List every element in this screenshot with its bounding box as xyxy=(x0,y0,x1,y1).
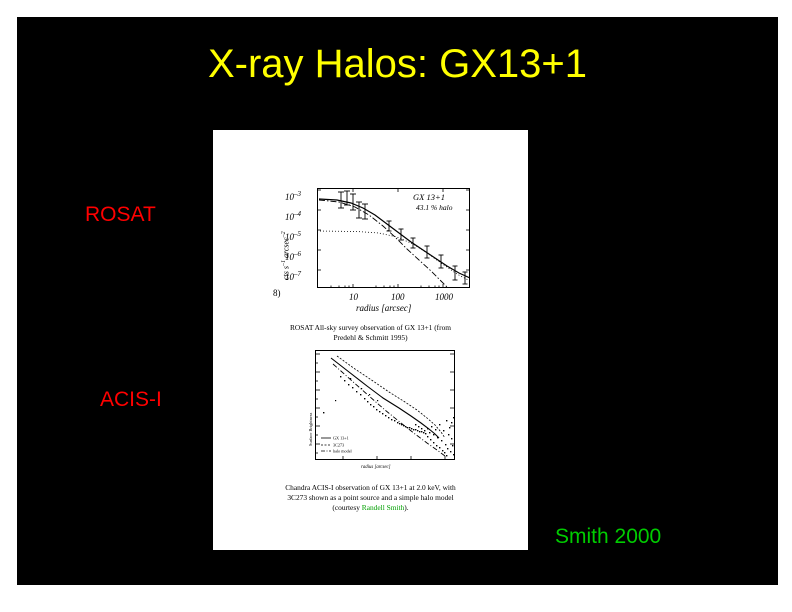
page-title: X-ray Halos: GX13+1 xyxy=(17,42,778,86)
credit-smith-2000: Smith 2000 xyxy=(555,525,661,549)
chandra-plot: GX 13+1 3C273 halo model Surface Brightn… xyxy=(213,348,528,548)
rosat-plot-svg xyxy=(317,188,470,288)
rosat-ytick-1e-3: 10–3 xyxy=(285,190,301,202)
rosat-curve-halo xyxy=(317,231,470,281)
rosat-yaxis-label: cts s–1 arcsec–2 xyxy=(281,231,291,280)
rosat-xtick-10: 10 xyxy=(349,292,358,302)
chandra-caption-link-randell-smith[interactable]: Randell Smith xyxy=(362,503,405,512)
figure-panel: 10–3 10–4 10–5 10–6 10–7 cts s–1 arcsec–… xyxy=(213,130,528,550)
chandra-legend xyxy=(321,438,331,451)
chandra-plot-svg: GX 13+1 3C273 halo model xyxy=(315,350,455,460)
rosat-ytick-1e-4: 10–4 xyxy=(285,210,301,222)
svg-text:halo model: halo model xyxy=(333,449,353,454)
rosat-caption-line1: ROSAT All-sky survey observation of GX 1… xyxy=(213,323,528,333)
chandra-caption-courtesy-post: ). xyxy=(404,503,408,512)
chandra-legend-text: GX 13+1 3C273 halo model xyxy=(333,436,353,454)
rosat-curve-psf xyxy=(319,200,448,288)
chandra-curve-halo-model xyxy=(333,364,445,456)
chandra-caption-line1: Chandra ACIS-I observation of GX 13+1 at… xyxy=(213,483,528,493)
chandra-caption-line3: (courtesy Randell Smith). xyxy=(213,503,528,513)
rosat-data-errorbars xyxy=(338,191,468,284)
rosat-curve-total xyxy=(319,199,470,278)
chandra-caption-courtesy-pre: (courtesy xyxy=(332,503,361,512)
rosat-figure-number: 8) xyxy=(273,288,281,298)
chandra-xaxis-label: radius [arcsec] xyxy=(361,465,391,470)
chandra-curve-3c273-alt xyxy=(337,356,445,438)
svg-text:3C273: 3C273 xyxy=(333,443,344,448)
rosat-caption-line2: Predehl & Schmitt 1995) xyxy=(213,333,528,343)
slide-canvas: X-ray Halos: GX13+1 ROSAT ACIS-I Smith 2… xyxy=(17,17,778,585)
rosat-xtick-1000: 1000 xyxy=(435,292,453,302)
chandra-yaxis-label: Surface Brightness xyxy=(308,413,313,446)
svg-text:GX 13+1: GX 13+1 xyxy=(333,436,349,441)
chandra-caption-line2: 3C273 shown as a point source and a simp… xyxy=(213,493,528,503)
rosat-plot: 10–3 10–4 10–5 10–6 10–7 cts s–1 arcsec–… xyxy=(213,130,528,315)
label-acis: ACIS-I xyxy=(100,388,162,412)
rosat-xaxis-label: radius [arcsec] xyxy=(356,303,411,313)
rosat-xtick-100: 100 xyxy=(391,292,405,302)
chandra-curve-3c273 xyxy=(331,358,439,438)
label-rosat: ROSAT xyxy=(85,203,156,227)
